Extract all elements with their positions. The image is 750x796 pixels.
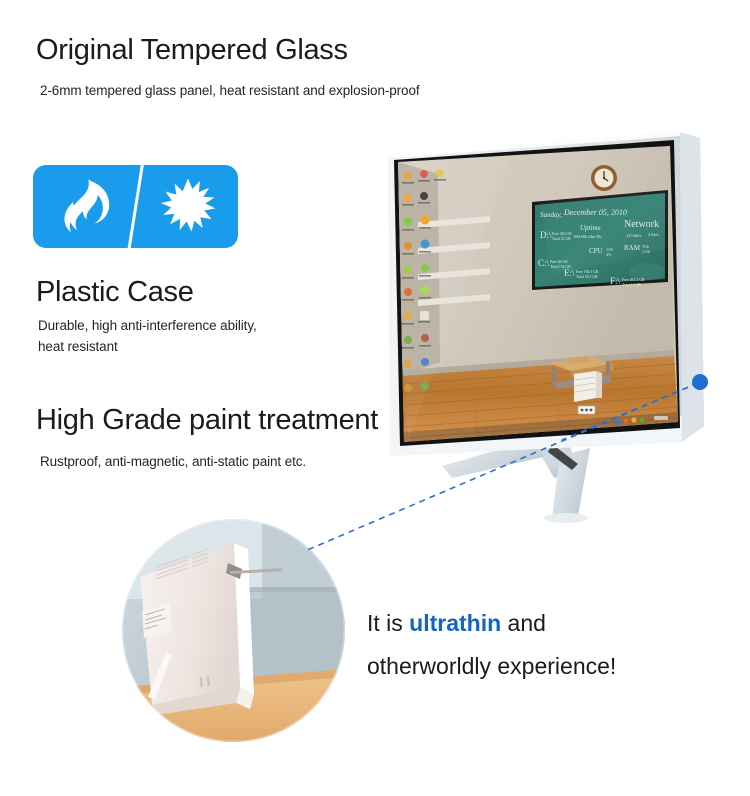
- plastic-subtitle-line-1: Durable, high anti-interference ability,: [38, 316, 338, 337]
- tagline-line-1: It is ultrathin and: [367, 602, 616, 645]
- svg-text:Total 13 GB: Total 13 GB: [622, 283, 641, 287]
- tagline-suffix: and: [501, 610, 546, 636]
- section-subtitle-tempered-glass: 2-6mm tempered glass panel, heat resista…: [40, 81, 420, 102]
- tagline-highlight: ultrathin: [409, 610, 501, 636]
- section-title-tempered-glass: Original Tempered Glass: [36, 34, 348, 67]
- monitor-illustration: Sunday, December 05, 2010 Network 213 kb…: [382, 126, 712, 546]
- rear-profile-inset-photo: [122, 519, 345, 742]
- section-subtitle-plastic-case: Durable, high anti-interference ability,…: [38, 316, 338, 358]
- svg-text:Total 58.2 GB: Total 58.2 GB: [576, 275, 598, 279]
- tagline-line-2: otherworldly experience!: [367, 645, 616, 688]
- section-title-paint-treatment: High Grade paint treatment: [36, 404, 378, 437]
- fire-explosion-badge: [33, 165, 238, 248]
- screen-content: Sunday, December 05, 2010 Network 213 kb…: [392, 140, 684, 450]
- section-title-plastic-case: Plastic Case: [36, 276, 194, 309]
- svg-text:C:\: C:\: [538, 258, 550, 268]
- tagline: It is ultrathin and otherworldly experie…: [367, 602, 616, 687]
- flame-icon: [33, 165, 134, 248]
- floor-gadget: [578, 406, 595, 414]
- svg-text:F:\: F:\: [610, 276, 621, 286]
- tagline-prefix: It is: [367, 610, 409, 636]
- explosion-burst-icon: [137, 165, 238, 248]
- product-infographic: Original Tempered Glass 2-6mm tempered g…: [0, 0, 750, 796]
- plastic-subtitle-line-2: heat resistant: [38, 337, 338, 358]
- section-subtitle-paint-treatment: Rustproof, anti-magnetic, anti-static pa…: [40, 452, 306, 473]
- svg-text:Free 166.5 GB: Free 166.5 GB: [576, 270, 599, 274]
